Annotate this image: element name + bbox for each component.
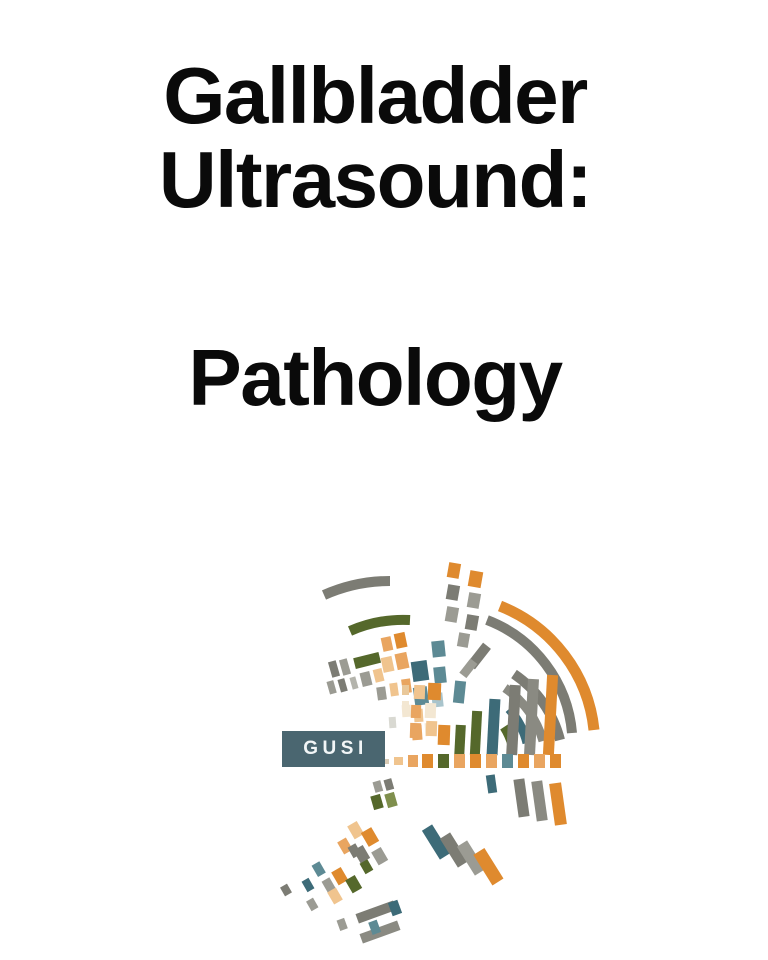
page-subtitle: Pathology — [0, 340, 768, 416]
arc-group-right — [487, 606, 594, 745]
tile-group-upper-center — [445, 562, 491, 704]
tile-group-lower-center — [280, 778, 398, 911]
title-line-2: Ultrasound: — [0, 142, 750, 218]
tile-group-bottom-tail — [337, 900, 403, 944]
tile-group-equator-row — [366, 754, 561, 768]
page-title: Gallbladder Ultrasound: — [0, 58, 768, 218]
gusi-badge-label: GUSI — [299, 738, 367, 760]
arc-group-upper-left — [324, 581, 410, 631]
slide-root: Gallbladder Ultrasound: Pathology — [0, 0, 768, 960]
title-line-1: Gallbladder — [0, 58, 750, 134]
gusi-badge: GUSI — [282, 731, 385, 767]
subtitle-line-1: Pathology — [0, 340, 750, 416]
tile-group-below-equator — [486, 774, 567, 825]
tile-group-lower-right-diagonal — [422, 824, 504, 885]
